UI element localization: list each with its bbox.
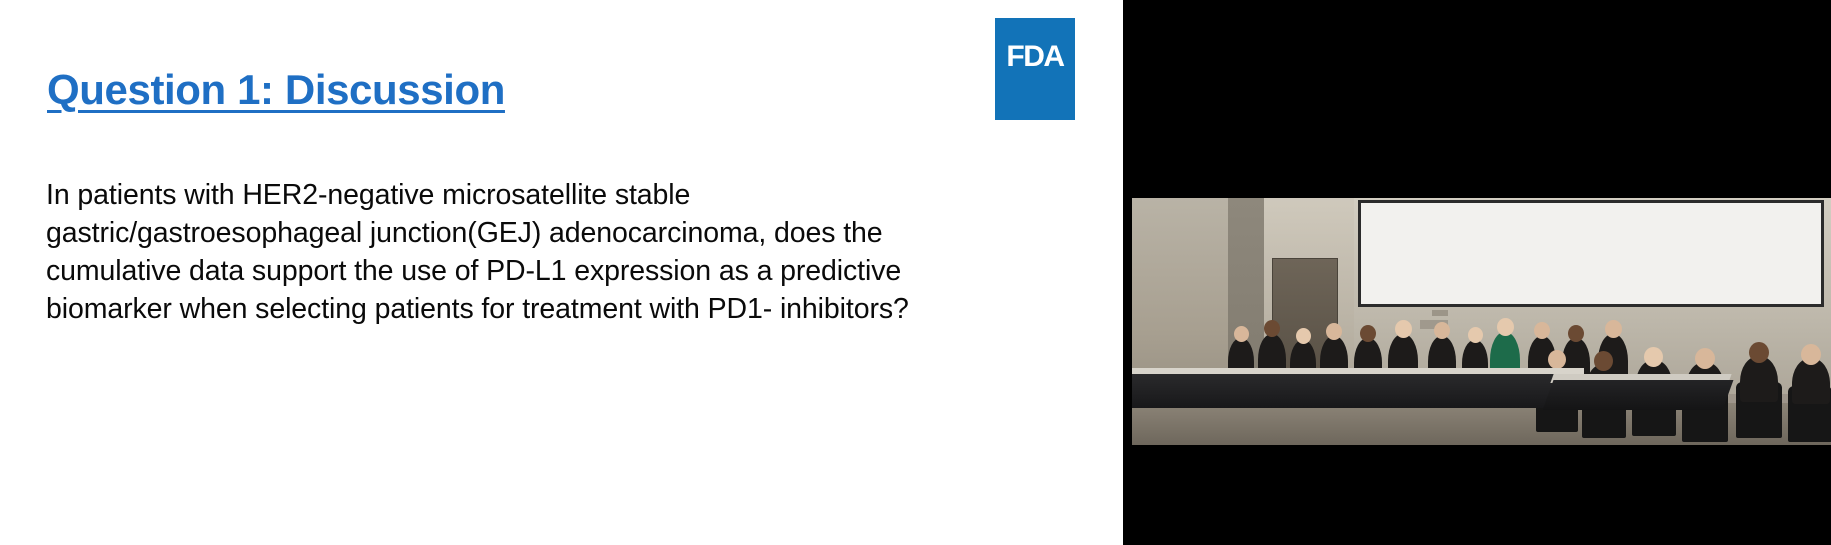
presentation-slide: Question 1: Discussion In patients with …: [0, 0, 1123, 545]
video-feed[interactable]: FDA Great Room: [1132, 198, 1831, 445]
attendee-head: [1468, 327, 1483, 343]
ceiling-vent-small: [1432, 310, 1448, 316]
slide-content: Question 1: Discussion In patients with …: [0, 0, 1123, 545]
attendee-head: [1568, 325, 1584, 342]
page-title: Question 1: Discussion: [47, 66, 505, 114]
video-conference-pane[interactable]: FDA Great Room: [1123, 0, 1831, 545]
body-line-3: cumulative data support the use of PD-L1…: [46, 252, 1056, 290]
attendee-head: [1605, 320, 1622, 338]
conference-table: [1132, 374, 1572, 408]
fda-logo-text: FDA: [995, 40, 1075, 74]
body-line-1: In patients with HER2-negative microsate…: [46, 176, 1056, 214]
slide-body-text: In patients with HER2-negative microsate…: [46, 176, 1056, 328]
attendee-head: [1594, 351, 1613, 371]
attendee-head: [1234, 326, 1249, 342]
attendee-head: [1395, 320, 1412, 338]
attendee-head: [1534, 322, 1550, 339]
slide-bottom-margin: [0, 440, 1123, 545]
attendee-head: [1801, 344, 1821, 365]
attendee-head: [1264, 320, 1280, 337]
attendee-head: [1326, 323, 1342, 340]
screen: Question 1: Discussion In patients with …: [0, 0, 1831, 545]
attendee-head: [1548, 350, 1566, 369]
conference-table-right: [1543, 380, 1734, 410]
fda-logo-icon: FDA: [995, 18, 1075, 120]
attendee-head: [1360, 325, 1376, 342]
attendee-head: [1644, 347, 1663, 367]
attendee-head: [1749, 342, 1769, 363]
projection-screen: [1358, 200, 1824, 307]
attendee-head: [1497, 318, 1514, 336]
attendee-head: [1695, 348, 1715, 369]
attendee-head: [1296, 328, 1311, 344]
body-line-4: biomarker when selecting patients for tr…: [46, 290, 1056, 328]
body-line-2: gastric/gastroesophageal junction(GEJ) a…: [46, 214, 1056, 252]
attendee-head: [1434, 322, 1450, 339]
